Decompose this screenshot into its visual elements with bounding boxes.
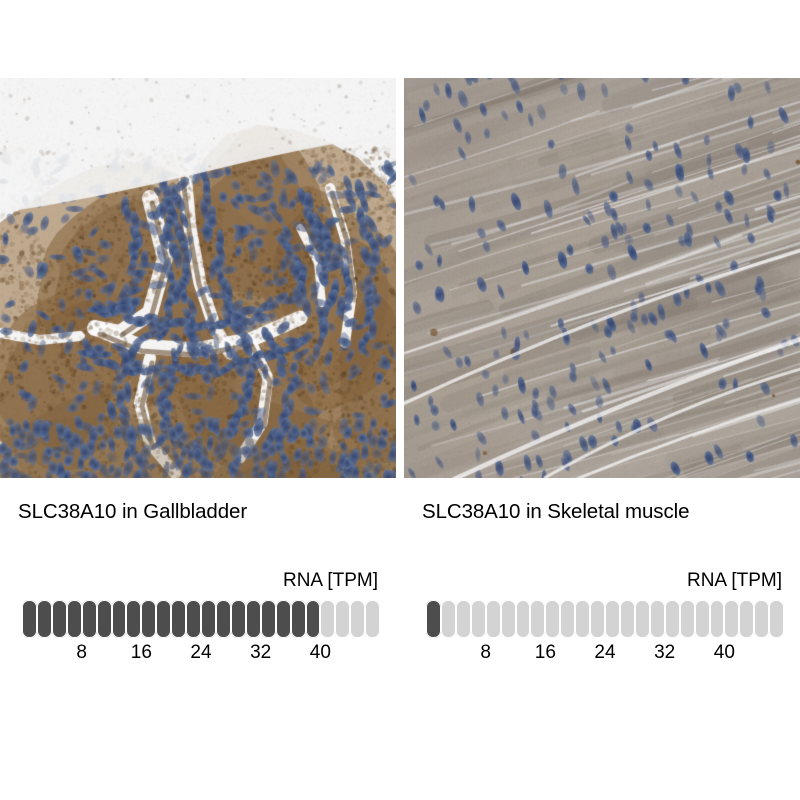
caption-cell-skeletal-muscle: SLC38A10 in Skeletal muscle [404, 500, 800, 524]
rna-bar-gauge-gallbladder [22, 600, 380, 638]
rna-bar-segment [126, 600, 141, 638]
caption-cell-gallbladder: SLC38A10 in Gallbladder [0, 500, 396, 524]
rna-bar-segment [620, 600, 635, 638]
rna-bar-segment [186, 600, 201, 638]
rna-bar-segment [560, 600, 575, 638]
rna-bar-segment [754, 600, 769, 638]
rna-axis-tick: 40 [714, 642, 735, 664]
rna-bar-segment [52, 600, 67, 638]
rna-bar-segment [650, 600, 665, 638]
rna-bar-segment [516, 600, 531, 638]
rna-bar-segment [216, 600, 231, 638]
rna-axis-tick: 24 [594, 642, 615, 664]
rna-bar-segment [471, 600, 486, 638]
rna-bar-segment [141, 600, 156, 638]
rna-bar-segment [665, 600, 680, 638]
rna-bar-segment [67, 600, 82, 638]
panel-gallbladder [0, 78, 396, 478]
panel-captions: SLC38A10 in Gallbladder SLC38A10 in Skel… [0, 500, 800, 524]
rna-axis-ticks-skeletal-muscle: 816243240 [426, 642, 784, 666]
rna-bar-segment [426, 600, 441, 638]
rna-bar-segment [82, 600, 97, 638]
rna-bar-segment [590, 600, 605, 638]
rna-bar-segment [365, 600, 380, 638]
rna-bar-segment [605, 600, 620, 638]
rna-bar-segment [97, 600, 112, 638]
rna-axis-tick: 16 [131, 642, 152, 664]
rna-bar-segment [530, 600, 545, 638]
rna-bar-segment [695, 600, 710, 638]
rna-bar-segment [335, 600, 350, 638]
rna-bar-gauge-skeletal-muscle [426, 600, 784, 638]
rna-bar-segment [156, 600, 171, 638]
rna-bar-segment [276, 600, 291, 638]
rna-axis-ticks-gallbladder: 816243240 [22, 642, 380, 666]
rna-bar-segment [306, 600, 321, 638]
rna-axis-tick: 32 [654, 642, 675, 664]
rna-axis-tick: 24 [190, 642, 211, 664]
rna-bar-segment [635, 600, 650, 638]
rna-bar-segment [291, 600, 306, 638]
rna-bar-segment [441, 600, 456, 638]
rna-bar-segment [22, 600, 37, 638]
skeletal-muscle-micrograph [404, 78, 800, 478]
rna-bar-segment [739, 600, 754, 638]
rna-bar-segment [320, 600, 335, 638]
rna-bar-segment [201, 600, 216, 638]
rna-bar-segment [575, 600, 590, 638]
rna-bar-segment [680, 600, 695, 638]
micrograph-panels [0, 78, 800, 478]
gallbladder-micrograph [0, 78, 396, 478]
rna-axis-tick: 40 [310, 642, 331, 664]
panel-skeletal-muscle [404, 78, 800, 478]
caption-gallbladder: SLC38A10 in Gallbladder [18, 500, 396, 524]
rna-bar-segment [501, 600, 516, 638]
rna-bar-segment [456, 600, 471, 638]
gallbladder-micrograph-canvas [0, 78, 396, 478]
rna-bar-segment [769, 600, 784, 638]
rna-bar-segment [710, 600, 725, 638]
skeletal-muscle-micrograph-canvas [404, 78, 800, 478]
rna-bar-segment [37, 600, 52, 638]
rna-bar-segment [231, 600, 246, 638]
rna-bar-segment [486, 600, 501, 638]
caption-skeletal-muscle: SLC38A10 in Skeletal muscle [422, 500, 800, 524]
rna-axis-tick: 8 [480, 642, 491, 664]
rna-bar-segment [261, 600, 276, 638]
rna-bar-segment [724, 600, 739, 638]
rna-tpm-label-gallbladder: RNA [TPM] [283, 570, 378, 592]
rna-tpm-label-skeletal-muscle: RNA [TPM] [687, 570, 782, 592]
rna-bar-segment [350, 600, 365, 638]
rna-bar-segment [545, 600, 560, 638]
rna-bar-segment [171, 600, 186, 638]
rna-axis-tick: 32 [250, 642, 271, 664]
rna-bar-segment [112, 600, 127, 638]
rna-bar-segment [246, 600, 261, 638]
rna-axis-tick: 8 [76, 642, 87, 664]
rna-axis-tick: 16 [535, 642, 556, 664]
